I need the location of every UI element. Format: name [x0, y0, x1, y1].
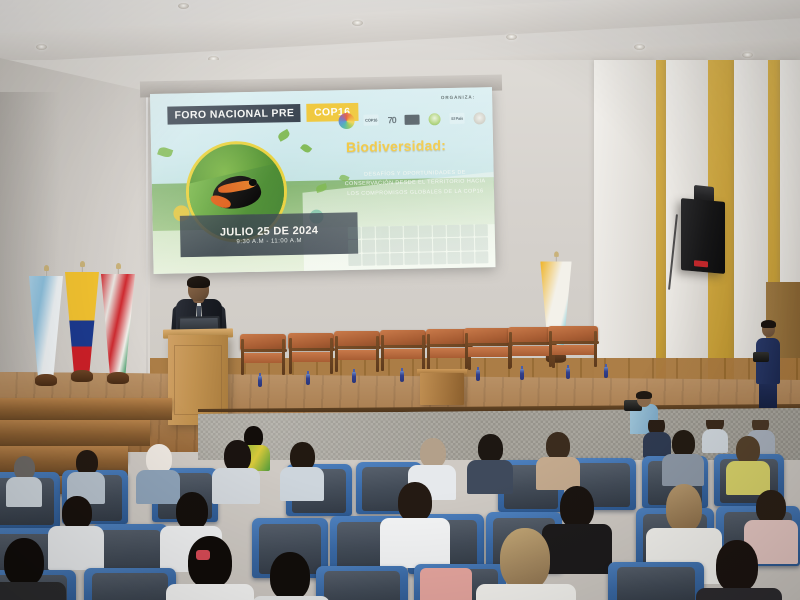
sdg-icon — [447, 252, 460, 265]
cop16-text-logo-icon: COP16 — [364, 114, 379, 125]
chair-seat — [241, 353, 285, 363]
person-head — [176, 492, 208, 530]
sdg-icon — [433, 238, 446, 251]
chair-seat — [289, 352, 333, 362]
person-head — [4, 538, 44, 586]
sdg-icon — [348, 240, 361, 253]
presenter-hair — [187, 276, 210, 288]
flag-base — [35, 374, 57, 386]
chair-armrest — [549, 341, 599, 344]
audience-seat[interactable] — [316, 566, 408, 600]
seat-cushion — [617, 567, 696, 600]
sdg-icon — [376, 226, 389, 239]
sdg-icon — [447, 238, 460, 251]
chair-frame — [465, 333, 468, 369]
chair-frame — [381, 335, 384, 371]
chair-frame — [241, 339, 244, 375]
sdg-icon — [418, 225, 431, 238]
side-table[interactable] — [420, 373, 464, 405]
photographer-hair — [761, 320, 776, 328]
sdg-icon — [391, 253, 404, 266]
stage-chair[interactable] — [548, 326, 598, 376]
chair-frame — [427, 334, 430, 370]
slide-time: 9:30 A.M - 11:00 A.M — [236, 238, 302, 245]
person-torso — [696, 588, 782, 600]
person-torso — [166, 584, 254, 600]
stage-chair[interactable] — [464, 328, 512, 376]
seal-logo-icon — [474, 112, 486, 124]
person-head — [546, 432, 570, 460]
person-head — [270, 552, 310, 600]
person-head — [672, 430, 695, 457]
flag-base — [107, 372, 129, 384]
sdg-icon — [461, 224, 474, 237]
person-head — [716, 540, 758, 592]
person-head — [756, 490, 786, 524]
projection-screen: FORO NACIONAL PRE COP16 ORGANIZA: COP16 … — [150, 87, 496, 274]
stage-step — [0, 398, 172, 410]
water-bottle — [476, 370, 480, 381]
stage-step-riser — [0, 410, 172, 420]
sdg-icon — [390, 239, 403, 252]
slide-date: JULIO 25 DE 2024 — [220, 224, 319, 238]
slide-date-band: JULIO 25 DE 2024 9:30 A.M - 11:00 A.M — [180, 212, 359, 257]
water-bottle — [306, 374, 310, 385]
frog-eye — [249, 179, 257, 187]
photographer-legs — [759, 380, 777, 408]
sdg-icon — [348, 227, 361, 240]
downlight-icon — [36, 44, 47, 50]
sdg-icon — [432, 225, 445, 238]
person-torso — [702, 429, 728, 453]
slide-header-dark: FORO NACIONAL PRE — [167, 104, 300, 125]
standing-photographer — [754, 318, 782, 406]
person-head — [420, 438, 446, 468]
chair-frame — [282, 339, 285, 375]
water-bottle — [352, 372, 356, 383]
flag-finial — [554, 251, 559, 257]
slide-main-title: Biodiversidad: — [346, 136, 490, 155]
chair-armrest — [335, 346, 381, 349]
anniversary-70-logo-icon: 70 — [388, 115, 396, 125]
water-bottle — [258, 376, 262, 387]
sdg-icon — [419, 252, 432, 265]
flag-base — [71, 370, 93, 382]
person-torso — [6, 477, 42, 507]
sdg-icon — [418, 239, 431, 252]
water-bottle — [604, 367, 608, 378]
water-bottle — [566, 368, 570, 379]
chair-frame — [509, 332, 512, 368]
sdg-icon — [475, 238, 488, 251]
person-torso — [726, 461, 770, 495]
camera-icon — [753, 352, 769, 362]
person-head — [478, 434, 503, 463]
chair-frame — [549, 331, 552, 367]
jbl-logo-icon — [694, 260, 708, 267]
cop16-flower-logo-icon — [339, 112, 355, 128]
person-torso — [476, 584, 576, 600]
photographer-hair — [636, 391, 652, 399]
sdg-icon — [390, 226, 403, 239]
water-bottle — [400, 371, 404, 382]
sdg-icon — [376, 240, 389, 253]
audience-seat[interactable] — [84, 568, 176, 600]
chair-seat — [335, 350, 379, 360]
downlight-icon — [634, 44, 645, 50]
sdg-icon — [404, 225, 417, 238]
person-head — [500, 528, 550, 590]
chair-frame — [289, 338, 292, 374]
stage-chair[interactable] — [334, 331, 380, 377]
person-head — [560, 486, 594, 528]
flag-finial — [44, 265, 49, 271]
audience-seating-area — [0, 420, 800, 600]
person-torso — [542, 524, 612, 574]
person-torso — [380, 518, 450, 568]
downlight-icon — [506, 34, 517, 40]
slide-subtitle: DESAFÍOS Y OPORTUNIDADES DE CONSERVACIÓN… — [340, 168, 491, 199]
el-pais-logo-icon: El País — [450, 113, 465, 124]
institution-dark-logo-icon — [405, 114, 420, 124]
podium-front-panel — [174, 345, 222, 415]
flag-finial — [80, 261, 85, 267]
sdg-icon — [475, 251, 488, 264]
wall-corner — [146, 84, 148, 414]
chair-frame — [330, 338, 333, 374]
person-torso — [280, 467, 324, 501]
person-head — [62, 496, 92, 530]
auditorium-photo-scene: FORO NACIONAL PRE COP16 ORGANIZA: COP16 … — [0, 0, 800, 600]
downlight-icon — [352, 20, 363, 26]
person-head — [188, 536, 232, 588]
sdg-icon — [348, 254, 361, 267]
person-torso — [467, 460, 513, 494]
chair-frame — [376, 336, 379, 372]
water-bottle — [520, 369, 524, 380]
chair-armrest — [465, 343, 513, 346]
chair-seat — [381, 349, 425, 359]
person-torso — [536, 457, 580, 490]
sdg-icon — [461, 238, 474, 251]
seat-cushion — [324, 571, 399, 600]
sdg-icon — [461, 251, 474, 264]
sdg-icon — [376, 253, 389, 266]
seat-cushion — [92, 573, 167, 600]
person-torso — [0, 582, 66, 600]
chair-frame — [422, 335, 425, 371]
person-head — [398, 482, 432, 522]
person-torso — [252, 596, 330, 600]
hair-tie — [196, 550, 210, 560]
downlight-icon — [178, 3, 189, 9]
person-torso — [48, 526, 104, 570]
person-torso — [420, 568, 472, 600]
wall-speaker — [681, 198, 725, 274]
person-torso — [136, 470, 180, 504]
person-torso — [662, 454, 704, 486]
stage-chair[interactable] — [288, 333, 334, 379]
sdg-icon — [362, 253, 375, 266]
sdg-icon — [433, 252, 446, 265]
chair-seat — [465, 347, 511, 357]
sdg-icon-grid — [348, 224, 489, 266]
person-torso — [212, 468, 260, 504]
chair-armrest — [241, 349, 287, 352]
flag-finial — [116, 263, 121, 269]
organiza-label: ORGANIZA: — [441, 95, 475, 101]
sdg-icon — [404, 239, 417, 252]
person-head — [666, 484, 702, 532]
sdg-icon — [362, 226, 375, 239]
downlight-icon — [742, 52, 753, 58]
sdg-icon — [362, 240, 375, 253]
person-head — [736, 436, 760, 464]
sdg-icon — [475, 224, 488, 237]
audience-seat[interactable] — [608, 562, 704, 600]
chair-frame — [335, 336, 338, 372]
chair-armrest — [381, 345, 427, 348]
chair-seat — [549, 345, 597, 355]
chair-frame — [594, 331, 597, 367]
chair-armrest — [289, 348, 335, 351]
green-circle-logo-icon — [429, 113, 441, 125]
stage-chair[interactable] — [240, 334, 286, 380]
organizer-logo-row: COP16 70 El País — [338, 106, 485, 132]
sdg-icon — [446, 225, 459, 238]
sdg-icon — [405, 253, 418, 266]
